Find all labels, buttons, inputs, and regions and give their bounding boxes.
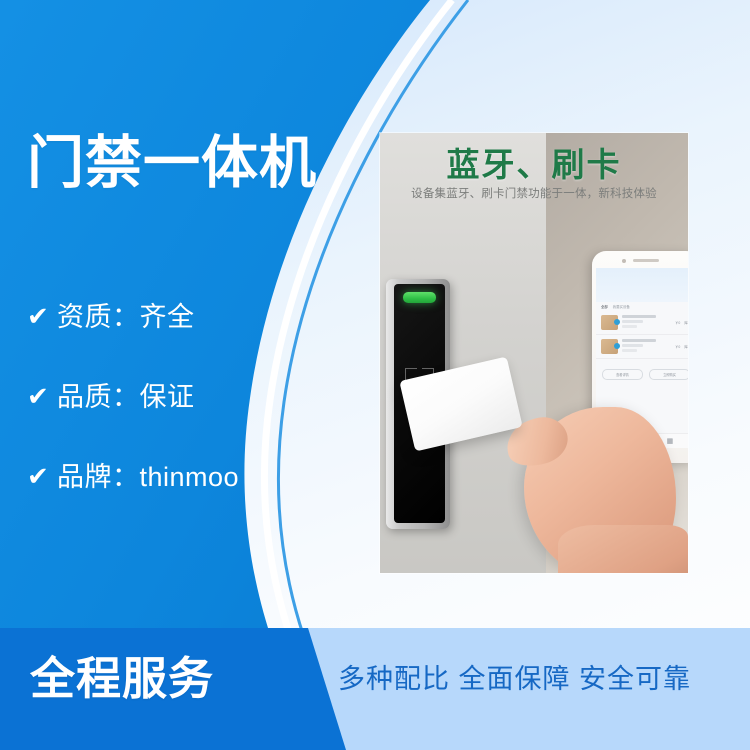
earpiece-icon bbox=[633, 259, 659, 262]
badge-icon bbox=[614, 319, 620, 325]
product-desc-line bbox=[622, 320, 643, 323]
page-title: 门禁一体机 bbox=[27, 133, 317, 195]
product-stock: 库存 bbox=[684, 320, 688, 325]
feature-label: 品牌：thinmoo bbox=[57, 464, 239, 491]
list-item: ✔ 品质：保证 bbox=[27, 378, 327, 416]
banner-subtitle: 多种配比 全面保障 安全可靠 bbox=[338, 666, 691, 693]
photo-subtitle: 设备集蓝牙、刷卡门禁功能于一体，新科技体验 bbox=[380, 185, 688, 201]
product-meta bbox=[622, 339, 671, 354]
product-desc-line bbox=[622, 344, 643, 347]
list-item: ✔ 资质：齐全 bbox=[27, 298, 327, 336]
feature-list: ✔ 资质：齐全 ✔ 品质：保证 ✔ 品牌：thinmoo bbox=[27, 298, 327, 538]
product-price: ￥0 bbox=[675, 320, 680, 325]
product-name-line bbox=[622, 339, 656, 342]
product-meta bbox=[622, 315, 671, 330]
product-price: ￥0 bbox=[675, 344, 680, 349]
list-item: ✔ 品牌：thinmoo bbox=[27, 458, 327, 496]
banner-title: 全程服务 bbox=[30, 656, 214, 701]
product-stock: 库存 bbox=[684, 344, 688, 349]
check-icon: ✔ bbox=[27, 463, 57, 489]
wrist bbox=[558, 525, 688, 573]
hand bbox=[498, 355, 673, 573]
check-icon: ✔ bbox=[27, 383, 57, 409]
promo-poster: 门禁一体机 ✔ 资质：齐全 ✔ 品质：保证 ✔ 品牌：thinmoo 蓝牙、刷卡… bbox=[0, 0, 750, 750]
bottom-banner: 全程服务 多种配比 全面保障 安全可靠 bbox=[0, 628, 750, 750]
badge-icon bbox=[614, 343, 620, 349]
tab-buy-device: 我要买设备 bbox=[613, 306, 630, 309]
product-tag-line bbox=[622, 349, 637, 352]
product-name-line bbox=[622, 315, 656, 318]
product-photo: 蓝牙、刷卡 设备集蓝牙、刷卡门禁功能于一体，新科技体验 bbox=[380, 133, 688, 573]
left-text-column: 门禁一体机 ✔ 资质：齐全 ✔ 品质：保证 ✔ 品牌：thinmoo bbox=[0, 0, 340, 640]
status-led-icon bbox=[403, 292, 436, 303]
front-camera-icon bbox=[622, 259, 626, 263]
feature-label: 资质：齐全 bbox=[57, 304, 195, 331]
app-tabs: 全部 我要买设备 bbox=[596, 302, 688, 311]
check-icon: ✔ bbox=[27, 303, 57, 329]
photo-title: 蓝牙、刷卡 bbox=[380, 138, 688, 186]
feature-label: 品质：保证 bbox=[57, 384, 195, 411]
product-thumbnail bbox=[601, 339, 618, 354]
product-thumbnail bbox=[601, 315, 618, 330]
product-tag-line bbox=[622, 325, 637, 328]
tab-all: 全部 bbox=[601, 306, 608, 309]
photo-caption: 蓝牙、刷卡 设备集蓝牙、刷卡门禁功能于一体，新科技体验 bbox=[380, 133, 688, 229]
list-item: ￥0 库存 bbox=[596, 311, 688, 335]
app-hero-banner bbox=[596, 268, 688, 302]
